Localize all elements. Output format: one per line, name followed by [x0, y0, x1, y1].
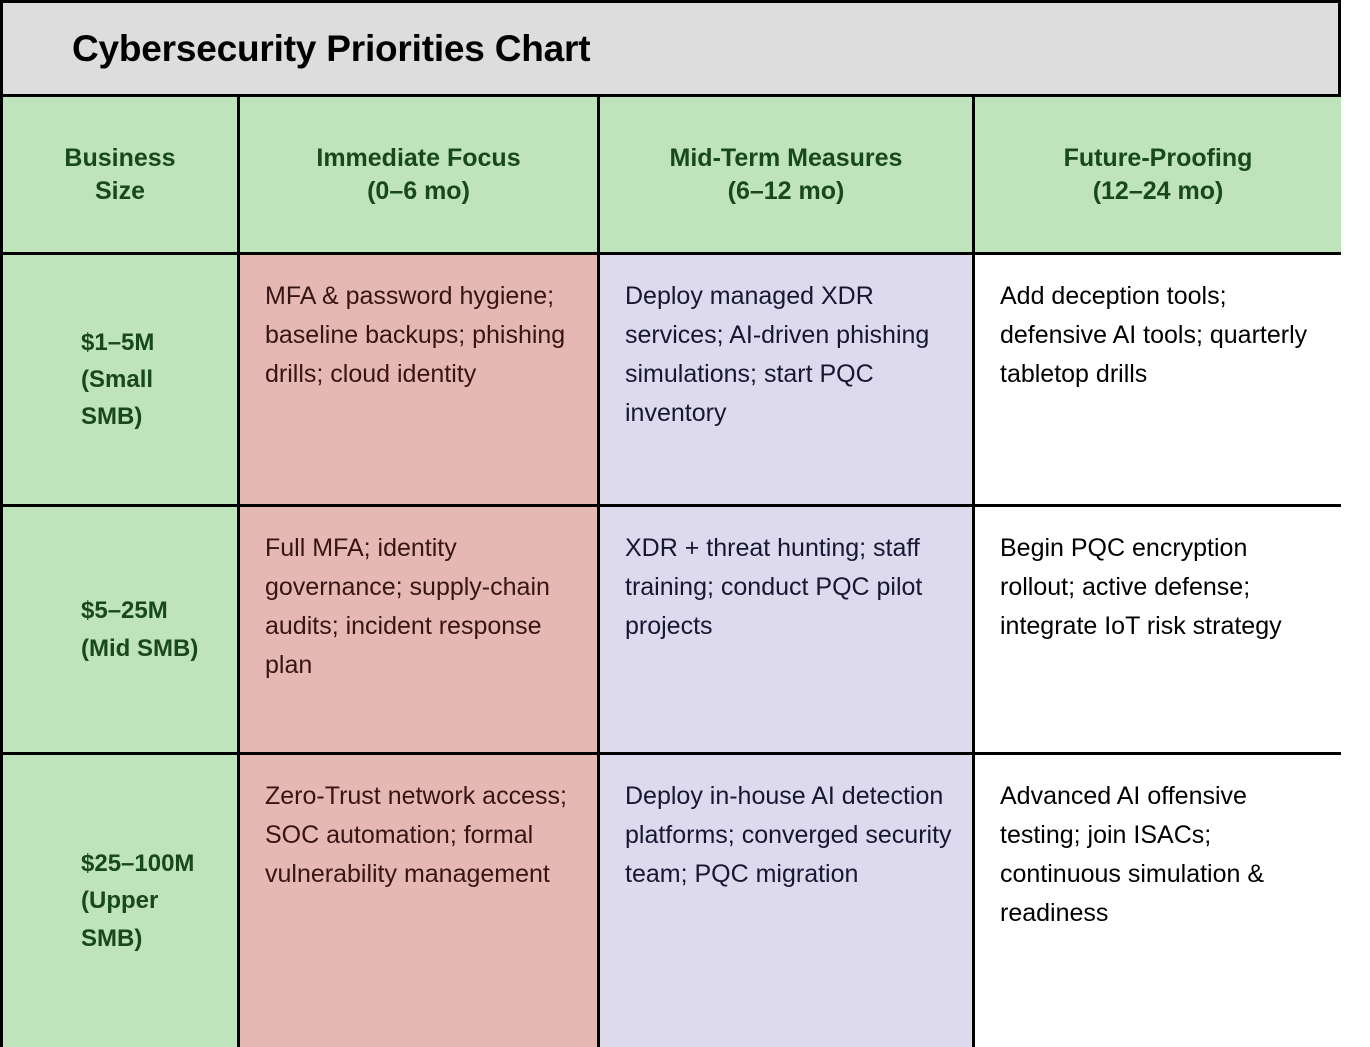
row-1-size-line3: SMB) [81, 398, 154, 435]
table-row-2-immediate-focus: Full MFA; identity governance; supply-ch… [240, 507, 600, 755]
column-header-immediate-focus-line1: Immediate Focus [316, 142, 520, 175]
chart-title-band: Cybersecurity Priorities Chart [0, 0, 1341, 97]
column-header-immediate-focus-line2: (0–6 mo) [367, 175, 470, 208]
column-header-business-size-line1: Business [64, 142, 175, 175]
table-row-2-future-proofing: Begin PQC encryption rollout; active def… [975, 507, 1341, 755]
table-row-1-mid-term: Deploy managed XDR services; AI-driven p… [600, 255, 975, 507]
row-1-size-line2: (Small [81, 361, 154, 398]
row-3-size-line2: (Upper [81, 882, 194, 919]
cybersecurity-priorities-chart: Cybersecurity Priorities Chart Business … [0, 0, 1341, 1047]
row-3-size-line3: SMB) [81, 920, 194, 957]
table-row-3-business-size: $25–100M (Upper SMB) [3, 755, 240, 1047]
column-header-mid-term-measures-line1: Mid-Term Measures [670, 142, 903, 175]
row-2-size-line2: (Mid SMB) [81, 630, 198, 667]
column-header-future-proofing-line2: (12–24 mo) [1093, 175, 1224, 208]
table-row-3-immediate-focus: Zero-Trust network access; SOC automatio… [240, 755, 600, 1047]
table-row-1-immediate-focus: MFA & password hygiene; baseline backups… [240, 255, 600, 507]
table-row-2-mid-term: XDR + threat hunting; staff training; co… [600, 507, 975, 755]
column-header-mid-term-measures-line2: (6–12 mo) [728, 175, 845, 208]
priorities-table: Business Size Immediate Focus (0–6 mo) M… [0, 97, 1341, 1047]
column-header-mid-term-measures: Mid-Term Measures (6–12 mo) [600, 97, 975, 255]
column-header-business-size-line2: Size [95, 175, 145, 208]
table-row-3-future-proofing: Advanced AI offensive testing; join ISAC… [975, 755, 1341, 1047]
page-title: Cybersecurity Priorities Chart [72, 28, 590, 70]
column-header-immediate-focus: Immediate Focus (0–6 mo) [240, 97, 600, 255]
table-row-1-future-proofing: Add deception tools; defensive AI tools;… [975, 255, 1341, 507]
column-header-future-proofing: Future-Proofing (12–24 mo) [975, 97, 1341, 255]
row-1-size-line1: $1–5M [81, 324, 154, 361]
table-row-1-business-size: $1–5M (Small SMB) [3, 255, 240, 507]
table-row-2-business-size: $5–25M (Mid SMB) [3, 507, 240, 755]
row-2-size-line1: $5–25M [81, 592, 198, 629]
column-header-business-size: Business Size [3, 97, 240, 255]
table-row-3-mid-term: Deploy in-house AI detection platforms; … [600, 755, 975, 1047]
column-header-future-proofing-line1: Future-Proofing [1064, 142, 1253, 175]
row-3-size-line1: $25–100M [81, 845, 194, 882]
